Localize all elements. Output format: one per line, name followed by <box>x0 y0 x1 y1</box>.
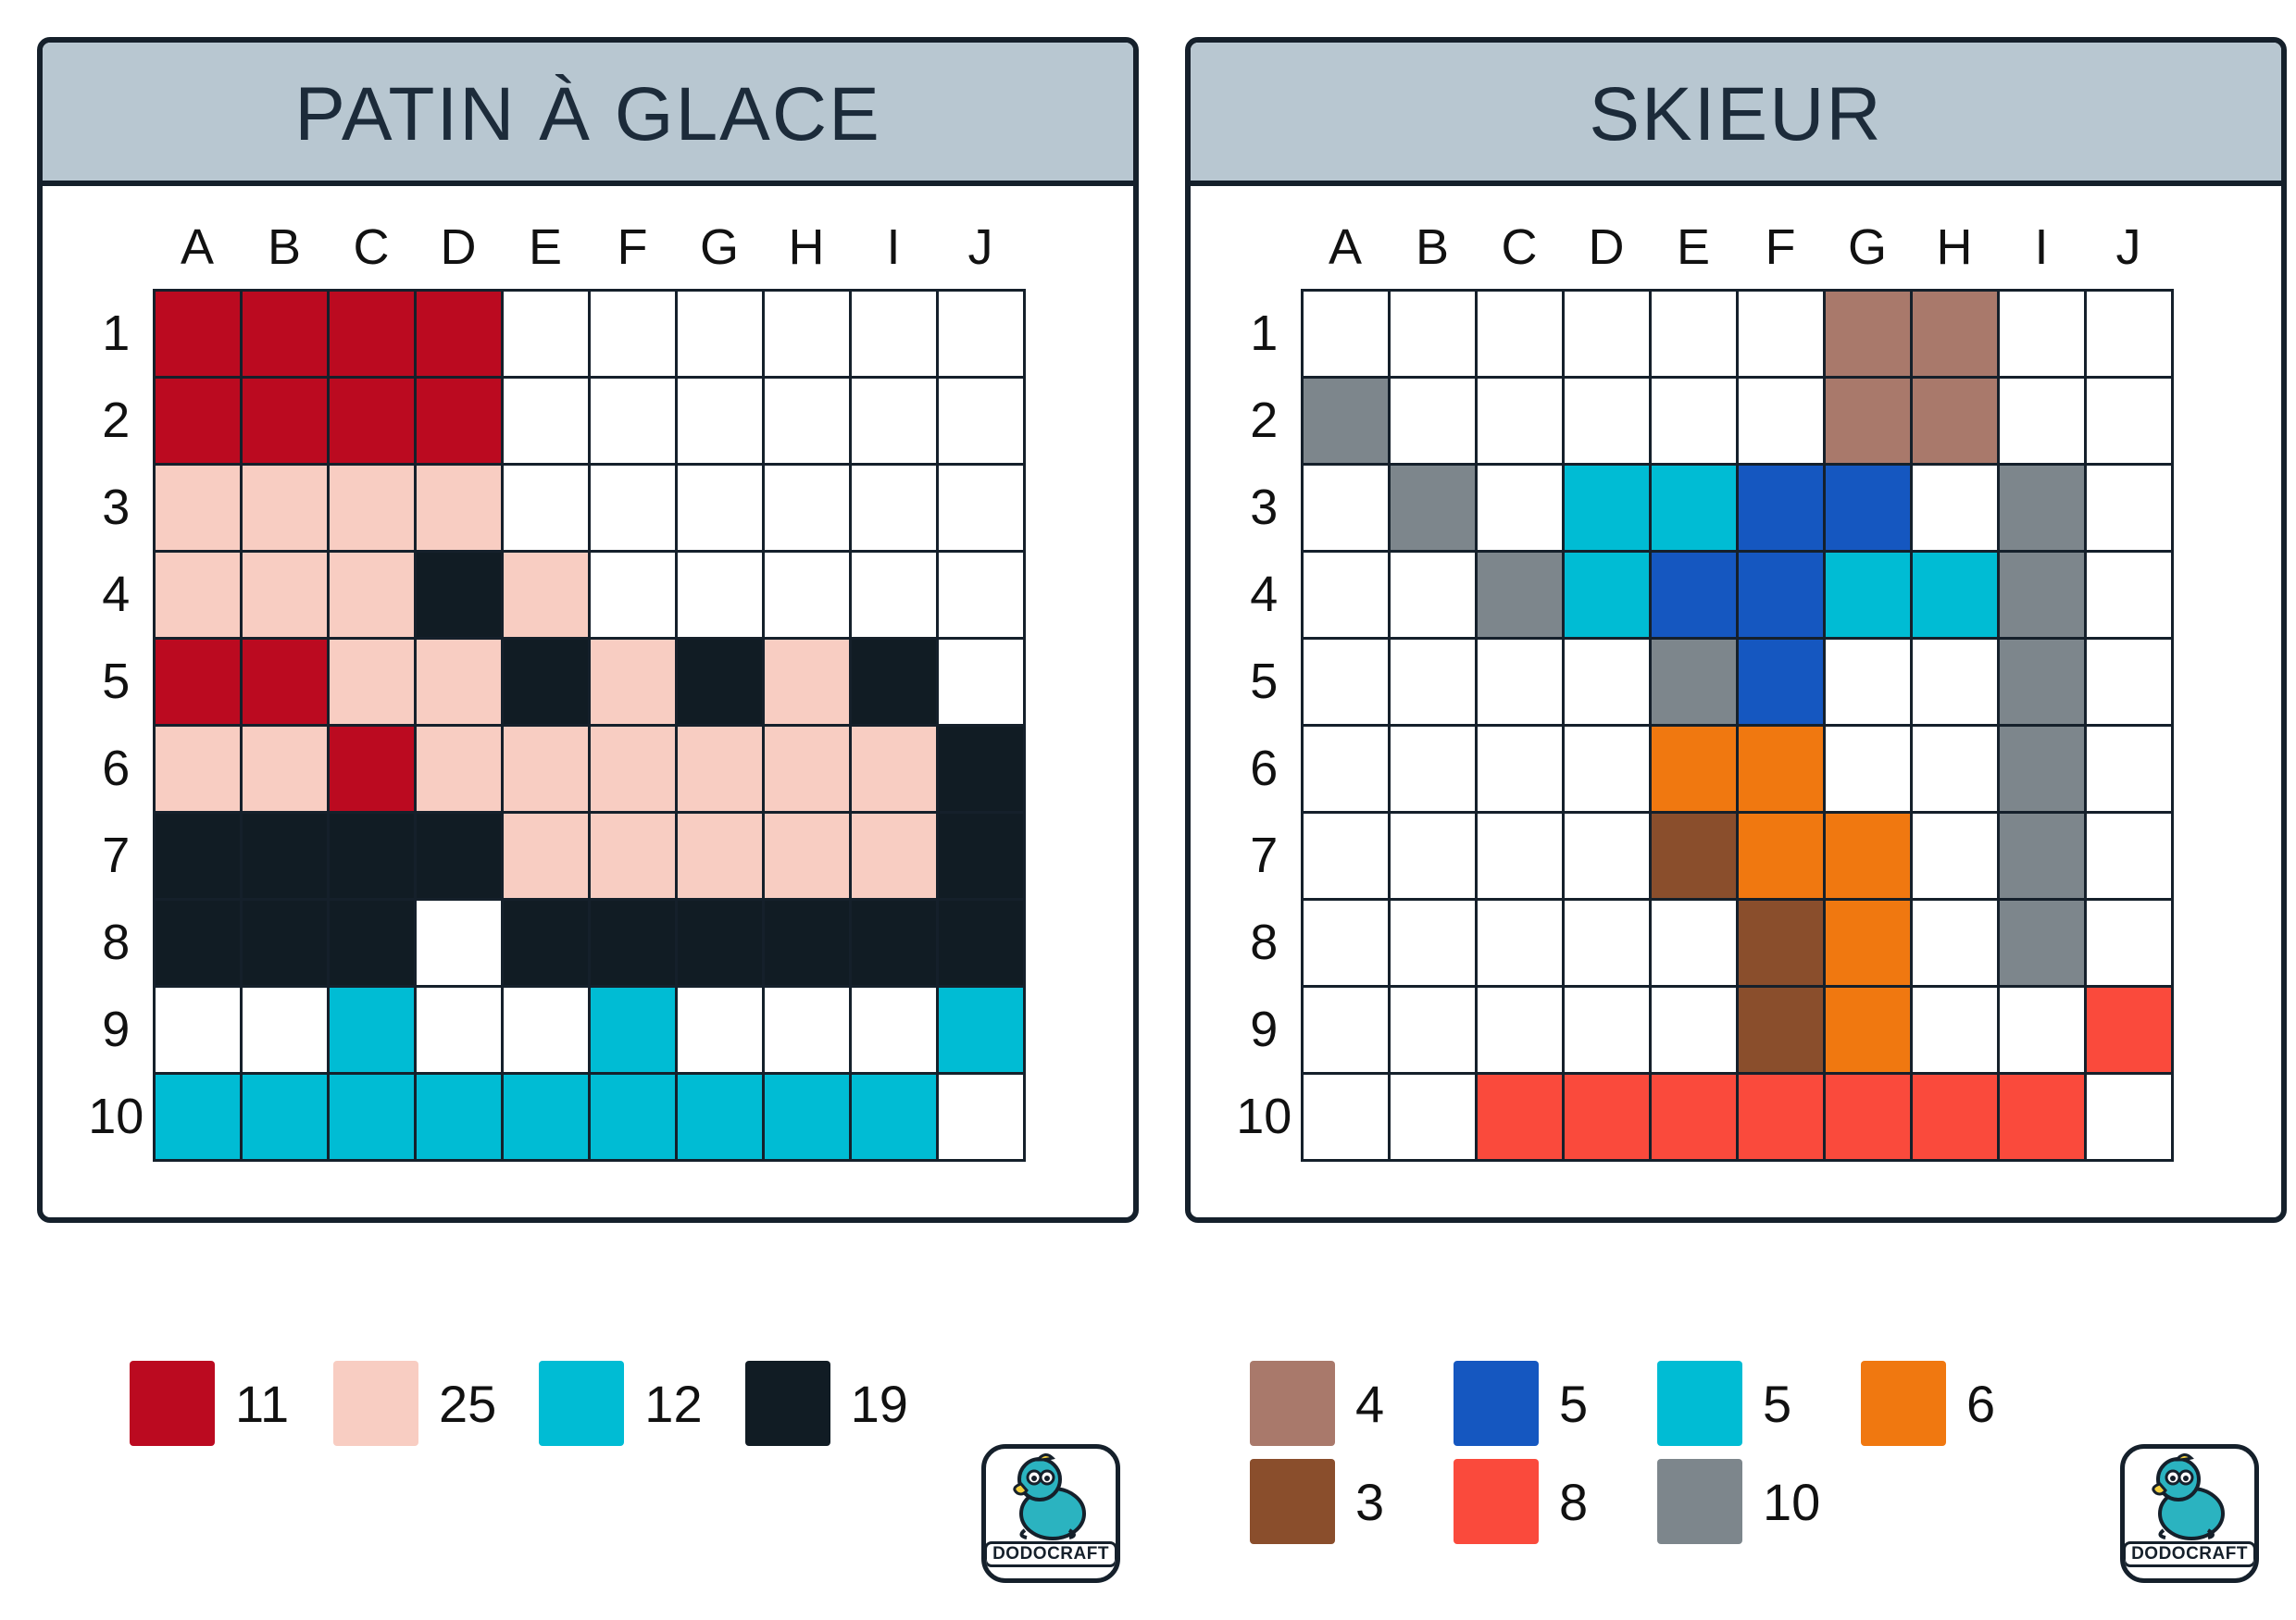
grid-cell-E10[interactable] <box>502 1073 589 1160</box>
grid-cell-I10[interactable] <box>850 1073 937 1160</box>
grid-cell-E1[interactable] <box>1650 290 1737 377</box>
grid-cell-D7[interactable] <box>415 812 502 899</box>
grid-cell-F7[interactable] <box>589 812 676 899</box>
grid-cell-J8[interactable] <box>2085 899 2172 986</box>
column-header-i: I <box>850 206 937 290</box>
grid-cell-C10[interactable] <box>1476 1073 1563 1160</box>
grid-cell-E2[interactable] <box>1650 377 1737 464</box>
grid-cell-G7[interactable] <box>676 812 763 899</box>
grid-cell-J1[interactable] <box>937 290 1024 377</box>
grid-cell-G5[interactable] <box>1824 638 1911 725</box>
grid-cell-A2[interactable] <box>154 377 241 464</box>
grid-cell-H10[interactable] <box>1911 1073 1998 1160</box>
grid-row: 3 <box>1228 464 2172 551</box>
grid-cell-G9[interactable] <box>676 986 763 1073</box>
grid-cell-A7[interactable] <box>154 812 241 899</box>
grid-cell-D1[interactable] <box>415 290 502 377</box>
grid-cell-J9[interactable] <box>937 986 1024 1073</box>
grid-cell-B5[interactable] <box>241 638 328 725</box>
grid-cell-C9[interactable] <box>1476 986 1563 1073</box>
grid-cell-G2[interactable] <box>1824 377 1911 464</box>
grid-cell-H5[interactable] <box>1911 638 1998 725</box>
grid-cell-J10[interactable] <box>2085 1073 2172 1160</box>
grid-cell-H6[interactable] <box>1911 725 1998 812</box>
grid-cell-B8[interactable] <box>241 899 328 986</box>
grid-cell-E3[interactable] <box>1650 464 1737 551</box>
grid-cell-I9[interactable] <box>1998 986 2085 1073</box>
grid-cell-I6[interactable] <box>1998 725 2085 812</box>
grid-cell-J6[interactable] <box>937 725 1024 812</box>
legend-count: 12 <box>644 1374 702 1434</box>
grid-cell-J7[interactable] <box>937 812 1024 899</box>
grid-cell-B10[interactable] <box>1389 1073 1476 1160</box>
grid-cell-F6[interactable] <box>589 725 676 812</box>
pixel-grid-right[interactable]: ABCDEFGHIJ 12345678910 <box>1228 206 2174 1162</box>
grid-cell-A3[interactable] <box>154 464 241 551</box>
legend-item-black: 19 <box>745 1361 908 1446</box>
grid-cell-J2[interactable] <box>2085 377 2172 464</box>
row-header-7: 7 <box>80 812 154 899</box>
grid-cell-A3[interactable] <box>1302 464 1389 551</box>
grid-cell-D6[interactable] <box>415 725 502 812</box>
grid-cell-C7[interactable] <box>1476 812 1563 899</box>
column-header-c: C <box>1476 206 1563 290</box>
grid-cell-A9[interactable] <box>154 986 241 1073</box>
grid-cell-F8[interactable] <box>589 899 676 986</box>
grid-cell-E5[interactable] <box>502 638 589 725</box>
column-header-d: D <box>415 206 502 290</box>
grid-cell-C1[interactable] <box>328 290 415 377</box>
grid-cell-E10[interactable] <box>1650 1073 1737 1160</box>
grid-cell-D1[interactable] <box>1563 290 1650 377</box>
grid-cell-H10[interactable] <box>763 1073 850 1160</box>
grid-cell-B6[interactable] <box>1389 725 1476 812</box>
grid-cell-D2[interactable] <box>1563 377 1650 464</box>
grid-row: 2 <box>1228 377 2172 464</box>
grid-cell-C2[interactable] <box>328 377 415 464</box>
grid-cell-A4[interactable] <box>154 551 241 638</box>
grid-cell-J6[interactable] <box>2085 725 2172 812</box>
grid-cell-C5[interactable] <box>328 638 415 725</box>
grid-cell-C8[interactable] <box>1476 899 1563 986</box>
grid-cell-E6[interactable] <box>1650 725 1737 812</box>
grid-cell-C4[interactable] <box>1476 551 1563 638</box>
grid-cell-A5[interactable] <box>1302 638 1389 725</box>
grid-row: 8 <box>1228 899 2172 986</box>
grid-cell-D9[interactable] <box>415 986 502 1073</box>
row-header-9: 9 <box>1228 986 1302 1073</box>
grid-cell-C2[interactable] <box>1476 377 1563 464</box>
grid-cell-B1[interactable] <box>1389 290 1476 377</box>
grid-cell-C9[interactable] <box>328 986 415 1073</box>
grid-cell-F10[interactable] <box>589 1073 676 1160</box>
grid-cell-I7[interactable] <box>850 812 937 899</box>
grid-cell-A2[interactable] <box>1302 377 1389 464</box>
legend-swatch-orange <box>1861 1361 1946 1446</box>
row-header-5: 5 <box>1228 638 1302 725</box>
grid-cell-E6[interactable] <box>502 725 589 812</box>
legend-count: 4 <box>1355 1374 1411 1434</box>
grid-cell-J5[interactable] <box>2085 638 2172 725</box>
grid-cell-H9[interactable] <box>763 986 850 1073</box>
legend-swatch-cyan <box>539 1361 624 1446</box>
grid-cell-H9[interactable] <box>1911 986 1998 1073</box>
column-header-row: ABCDEFGHIJ <box>80 206 1024 290</box>
grid-cell-I7[interactable] <box>1998 812 2085 899</box>
grid-cell-G10[interactable] <box>1824 1073 1911 1160</box>
grid-cell-J1[interactable] <box>2085 290 2172 377</box>
legend-count: 11 <box>235 1374 291 1434</box>
grid-row: 7 <box>1228 812 2172 899</box>
grid-cell-F9[interactable] <box>1737 986 1824 1073</box>
row-header-8: 8 <box>1228 899 1302 986</box>
row-header-2: 2 <box>1228 377 1302 464</box>
grid-cell-I3[interactable] <box>1998 464 2085 551</box>
column-header-f: F <box>589 206 676 290</box>
legend-swatch-red <box>130 1361 215 1446</box>
column-header-e: E <box>502 206 589 290</box>
grid-cell-D3[interactable] <box>1563 464 1650 551</box>
grid-row: 5 <box>1228 638 2172 725</box>
grid-cell-G10[interactable] <box>676 1073 763 1160</box>
boards-container: PATIN À GLACE ABCDEFGHIJ 12345678910 SKI… <box>37 37 2287 1223</box>
grid-corner <box>1228 206 1302 290</box>
grid-cell-C7[interactable] <box>328 812 415 899</box>
grid-cell-B5[interactable] <box>1389 638 1476 725</box>
legend-swatch-gray <box>1657 1459 1742 1544</box>
legend-swatch-blue <box>1454 1361 1539 1446</box>
grid-row: 3 <box>80 464 1024 551</box>
grid-cell-E8[interactable] <box>1650 899 1737 986</box>
grid-row: 1 <box>80 290 1024 377</box>
grid-cell-D5[interactable] <box>1563 638 1650 725</box>
grid-cell-F3[interactable] <box>1737 464 1824 551</box>
legend-item-red: 11 <box>130 1361 291 1446</box>
grid-cell-J2[interactable] <box>937 377 1024 464</box>
grid-cell-A9[interactable] <box>1302 986 1389 1073</box>
panel-body-left: ABCDEFGHIJ 12345678910 <box>43 186 1133 1217</box>
grid-cell-D4[interactable] <box>415 551 502 638</box>
grid-cell-D7[interactable] <box>1563 812 1650 899</box>
pixel-grid-left[interactable]: ABCDEFGHIJ 12345678910 <box>80 206 1026 1162</box>
grid-rows-left: 12345678910 <box>80 290 1024 1160</box>
legend-swatch-black <box>745 1361 830 1446</box>
grid-cell-I1[interactable] <box>1998 290 2085 377</box>
grid-cell-D8[interactable] <box>415 899 502 986</box>
grid-cell-A10[interactable] <box>154 1073 241 1160</box>
column-header-row: ABCDEFGHIJ <box>1228 206 2172 290</box>
grid-cell-F10[interactable] <box>1737 1073 1824 1160</box>
grid-row: 6 <box>1228 725 2172 812</box>
grid-cell-G3[interactable] <box>676 464 763 551</box>
grid-cell-G3[interactable] <box>1824 464 1911 551</box>
grid-cell-C6[interactable] <box>328 725 415 812</box>
legend-swatch-cyan <box>1657 1361 1742 1446</box>
grid-cell-A8[interactable] <box>154 899 241 986</box>
legend-item-tan: 4 <box>1250 1361 1411 1446</box>
grid-cell-E4[interactable] <box>502 551 589 638</box>
brand-logo-right: DODOCRAFT <box>2120 1444 2259 1583</box>
panel-patin-a-glace: PATIN À GLACE ABCDEFGHIJ 12345678910 <box>37 37 1139 1223</box>
grid-cell-H8[interactable] <box>763 899 850 986</box>
column-header-e: E <box>1650 206 1737 290</box>
grid-cell-E2[interactable] <box>502 377 589 464</box>
column-header-j: J <box>937 206 1024 290</box>
grid-cell-J4[interactable] <box>2085 551 2172 638</box>
grid-cell-D10[interactable] <box>1563 1073 1650 1160</box>
grid-cell-J4[interactable] <box>937 551 1024 638</box>
legend-item-orange: 6 <box>1861 1361 2022 1446</box>
grid-cell-F1[interactable] <box>589 290 676 377</box>
grid-row: 9 <box>1228 986 2172 1073</box>
grid-cell-B3[interactable] <box>1389 464 1476 551</box>
grid-cell-C8[interactable] <box>328 899 415 986</box>
grid-cell-F5[interactable] <box>589 638 676 725</box>
grid-cell-I8[interactable] <box>1998 899 2085 986</box>
grid-cell-G4[interactable] <box>676 551 763 638</box>
grid-cell-G1[interactable] <box>676 290 763 377</box>
column-header-h: H <box>1911 206 1998 290</box>
grid-cell-D5[interactable] <box>415 638 502 725</box>
grid-cell-B10[interactable] <box>241 1073 328 1160</box>
grid-cell-G2[interactable] <box>676 377 763 464</box>
grid-cell-D6[interactable] <box>1563 725 1650 812</box>
grid-cell-I6[interactable] <box>850 725 937 812</box>
grid-cell-B4[interactable] <box>1389 551 1476 638</box>
grid-row: 9 <box>80 986 1024 1073</box>
panel-title-right: SKIEUR <box>1191 43 2281 186</box>
grid-row: 7 <box>80 812 1024 899</box>
grid-row: 10 <box>1228 1073 2172 1160</box>
grid-cell-H1[interactable] <box>763 290 850 377</box>
legend-swatch-brown <box>1250 1459 1335 1544</box>
legend-item-blue: 5 <box>1454 1361 1615 1446</box>
grid-cell-B9[interactable] <box>241 986 328 1073</box>
grid-cell-G9[interactable] <box>1824 986 1911 1073</box>
grid-cell-B2[interactable] <box>1389 377 1476 464</box>
grid-cell-I8[interactable] <box>850 899 937 986</box>
column-header-h: H <box>763 206 850 290</box>
grid-cell-B4[interactable] <box>241 551 328 638</box>
grid-cell-F6[interactable] <box>1737 725 1824 812</box>
row-header-4: 4 <box>1228 551 1302 638</box>
grid-cell-G8[interactable] <box>1824 899 1911 986</box>
panel-title-left: PATIN À GLACE <box>43 43 1133 186</box>
grid-cell-J7[interactable] <box>2085 812 2172 899</box>
grid-cell-B1[interactable] <box>241 290 328 377</box>
grid-row: 1 <box>1228 290 2172 377</box>
grid-cell-H1[interactable] <box>1911 290 1998 377</box>
grid-cell-B6[interactable] <box>241 725 328 812</box>
grid-cell-C4[interactable] <box>328 551 415 638</box>
grid-cell-E4[interactable] <box>1650 551 1737 638</box>
column-header-j: J <box>2085 206 2172 290</box>
grid-cell-F2[interactable] <box>1737 377 1824 464</box>
grid-cell-E9[interactable] <box>1650 986 1737 1073</box>
legend-item-gray: 10 <box>1657 1459 1820 1544</box>
column-header-i: I <box>1998 206 2085 290</box>
legend-count: 25 <box>439 1374 496 1434</box>
grid-cell-G5[interactable] <box>676 638 763 725</box>
grid-cell-H3[interactable] <box>1911 464 1998 551</box>
grid-cell-C3[interactable] <box>328 464 415 551</box>
grid-cell-F9[interactable] <box>589 986 676 1073</box>
grid-cell-A6[interactable] <box>1302 725 1389 812</box>
grid-cell-H6[interactable] <box>763 725 850 812</box>
grid-cell-G4[interactable] <box>1824 551 1911 638</box>
column-header-d: D <box>1563 206 1650 290</box>
legend-count: 5 <box>1559 1374 1615 1434</box>
column-header-a: A <box>1302 206 1389 290</box>
grid-cell-G7[interactable] <box>1824 812 1911 899</box>
grid-cell-A8[interactable] <box>1302 899 1389 986</box>
grid-cell-G6[interactable] <box>676 725 763 812</box>
legend-count: 6 <box>1966 1374 2022 1434</box>
grid-cell-E5[interactable] <box>1650 638 1737 725</box>
grid-cell-I5[interactable] <box>1998 638 2085 725</box>
grid-cell-B7[interactable] <box>241 812 328 899</box>
grid-cell-I4[interactable] <box>1998 551 2085 638</box>
grid-cell-A10[interactable] <box>1302 1073 1389 1160</box>
column-header-g: G <box>676 206 763 290</box>
row-header-1: 1 <box>1228 290 1302 377</box>
grid-cell-F3[interactable] <box>589 464 676 551</box>
grid-cell-B8[interactable] <box>1389 899 1476 986</box>
grid-cell-G8[interactable] <box>676 899 763 986</box>
legend-item-cyan: 5 <box>1657 1361 1818 1446</box>
row-header-1: 1 <box>80 290 154 377</box>
grid-row: 10 <box>80 1073 1024 1160</box>
grid-cell-F4[interactable] <box>589 551 676 638</box>
grid-cell-C6[interactable] <box>1476 725 1563 812</box>
column-header-a: A <box>154 206 241 290</box>
grid-cell-H4[interactable] <box>763 551 850 638</box>
grid-rows-right: 12345678910 <box>1228 290 2172 1160</box>
grid-cell-I9[interactable] <box>850 986 937 1073</box>
panel-skieur: SKIEUR ABCDEFGHIJ 12345678910 <box>1185 37 2287 1223</box>
legend-right: 45563810 <box>1250 1361 2250 1557</box>
grid-cell-A1[interactable] <box>154 290 241 377</box>
grid-cell-C3[interactable] <box>1476 464 1563 551</box>
grid-cell-J3[interactable] <box>937 464 1024 551</box>
legend-swatch-tan <box>1250 1361 1335 1446</box>
legend-item-pink: 25 <box>333 1361 496 1446</box>
grid-cell-B9[interactable] <box>1389 986 1476 1073</box>
legend-left: 11251219 <box>130 1361 963 1459</box>
grid-cell-H5[interactable] <box>763 638 850 725</box>
grid-cell-F7[interactable] <box>1737 812 1824 899</box>
grid-cell-H7[interactable] <box>1911 812 1998 899</box>
grid-cell-D3[interactable] <box>415 464 502 551</box>
grid-cell-G1[interactable] <box>1824 290 1911 377</box>
grid-cell-B7[interactable] <box>1389 812 1476 899</box>
grid-cell-E9[interactable] <box>502 986 589 1073</box>
row-header-9: 9 <box>80 986 154 1073</box>
grid-cell-D2[interactable] <box>415 377 502 464</box>
grid-cell-I10[interactable] <box>1998 1073 2085 1160</box>
grid-cell-J5[interactable] <box>937 638 1024 725</box>
legend-count: 10 <box>1763 1472 1820 1532</box>
legend-count: 3 <box>1355 1472 1411 1532</box>
row-header-10: 10 <box>1228 1073 1302 1160</box>
grid-cell-I2[interactable] <box>850 377 937 464</box>
row-header-5: 5 <box>80 638 154 725</box>
grid-cell-J10[interactable] <box>937 1073 1024 1160</box>
column-header-g: G <box>1824 206 1911 290</box>
grid-cell-A5[interactable] <box>154 638 241 725</box>
grid-cell-I1[interactable] <box>850 290 937 377</box>
grid-row: 4 <box>1228 551 2172 638</box>
grid-row: 5 <box>80 638 1024 725</box>
panel-body-right: ABCDEFGHIJ 12345678910 <box>1191 186 2281 1217</box>
grid-cell-E7[interactable] <box>1650 812 1737 899</box>
grid-cell-H8[interactable] <box>1911 899 1998 986</box>
grid-cell-I4[interactable] <box>850 551 937 638</box>
row-header-10: 10 <box>80 1073 154 1160</box>
grid-cell-E1[interactable] <box>502 290 589 377</box>
grid-cell-H2[interactable] <box>1911 377 1998 464</box>
grid-cell-A4[interactable] <box>1302 551 1389 638</box>
grid-cell-J3[interactable] <box>2085 464 2172 551</box>
grid-cell-E8[interactable] <box>502 899 589 986</box>
grid-cell-I3[interactable] <box>850 464 937 551</box>
row-header-8: 8 <box>80 899 154 986</box>
grid-cell-D4[interactable] <box>1563 551 1650 638</box>
grid-cell-H3[interactable] <box>763 464 850 551</box>
grid-cell-G6[interactable] <box>1824 725 1911 812</box>
legend-swatch-salmon <box>1454 1459 1539 1544</box>
grid-cell-A6[interactable] <box>154 725 241 812</box>
grid-cell-F4[interactable] <box>1737 551 1824 638</box>
grid-cell-H2[interactable] <box>763 377 850 464</box>
grid-cell-I5[interactable] <box>850 638 937 725</box>
grid-row: 8 <box>80 899 1024 986</box>
grid-cell-C1[interactable] <box>1476 290 1563 377</box>
grid-cell-F8[interactable] <box>1737 899 1824 986</box>
row-header-3: 3 <box>80 464 154 551</box>
grid-cell-B2[interactable] <box>241 377 328 464</box>
grid-cell-F1[interactable] <box>1737 290 1824 377</box>
legend-count: 8 <box>1559 1472 1615 1532</box>
column-header-f: F <box>1737 206 1824 290</box>
row-header-2: 2 <box>80 377 154 464</box>
grid-cell-E7[interactable] <box>502 812 589 899</box>
grid-cell-J8[interactable] <box>937 899 1024 986</box>
grid-cell-I2[interactable] <box>1998 377 2085 464</box>
grid-cell-D10[interactable] <box>415 1073 502 1160</box>
grid-cell-H4[interactable] <box>1911 551 1998 638</box>
grid-row: 2 <box>80 377 1024 464</box>
grid-cell-D9[interactable] <box>1563 986 1650 1073</box>
legend-item-cyan: 12 <box>539 1361 702 1446</box>
grid-cell-H7[interactable] <box>763 812 850 899</box>
row-header-6: 6 <box>80 725 154 812</box>
grid-cell-C5[interactable] <box>1476 638 1563 725</box>
grid-cell-D8[interactable] <box>1563 899 1650 986</box>
column-header-b: B <box>1389 206 1476 290</box>
grid-cell-F2[interactable] <box>589 377 676 464</box>
legend-count: 5 <box>1763 1374 1818 1434</box>
grid-cell-A7[interactable] <box>1302 812 1389 899</box>
grid-cell-E3[interactable] <box>502 464 589 551</box>
grid-cell-J9[interactable] <box>2085 986 2172 1073</box>
grid-cell-B3[interactable] <box>241 464 328 551</box>
grid-cell-F5[interactable] <box>1737 638 1824 725</box>
legend-item-salmon: 8 <box>1454 1459 1615 1544</box>
grid-cell-C10[interactable] <box>328 1073 415 1160</box>
grid-row: 4 <box>80 551 1024 638</box>
grid-cell-A1[interactable] <box>1302 290 1389 377</box>
